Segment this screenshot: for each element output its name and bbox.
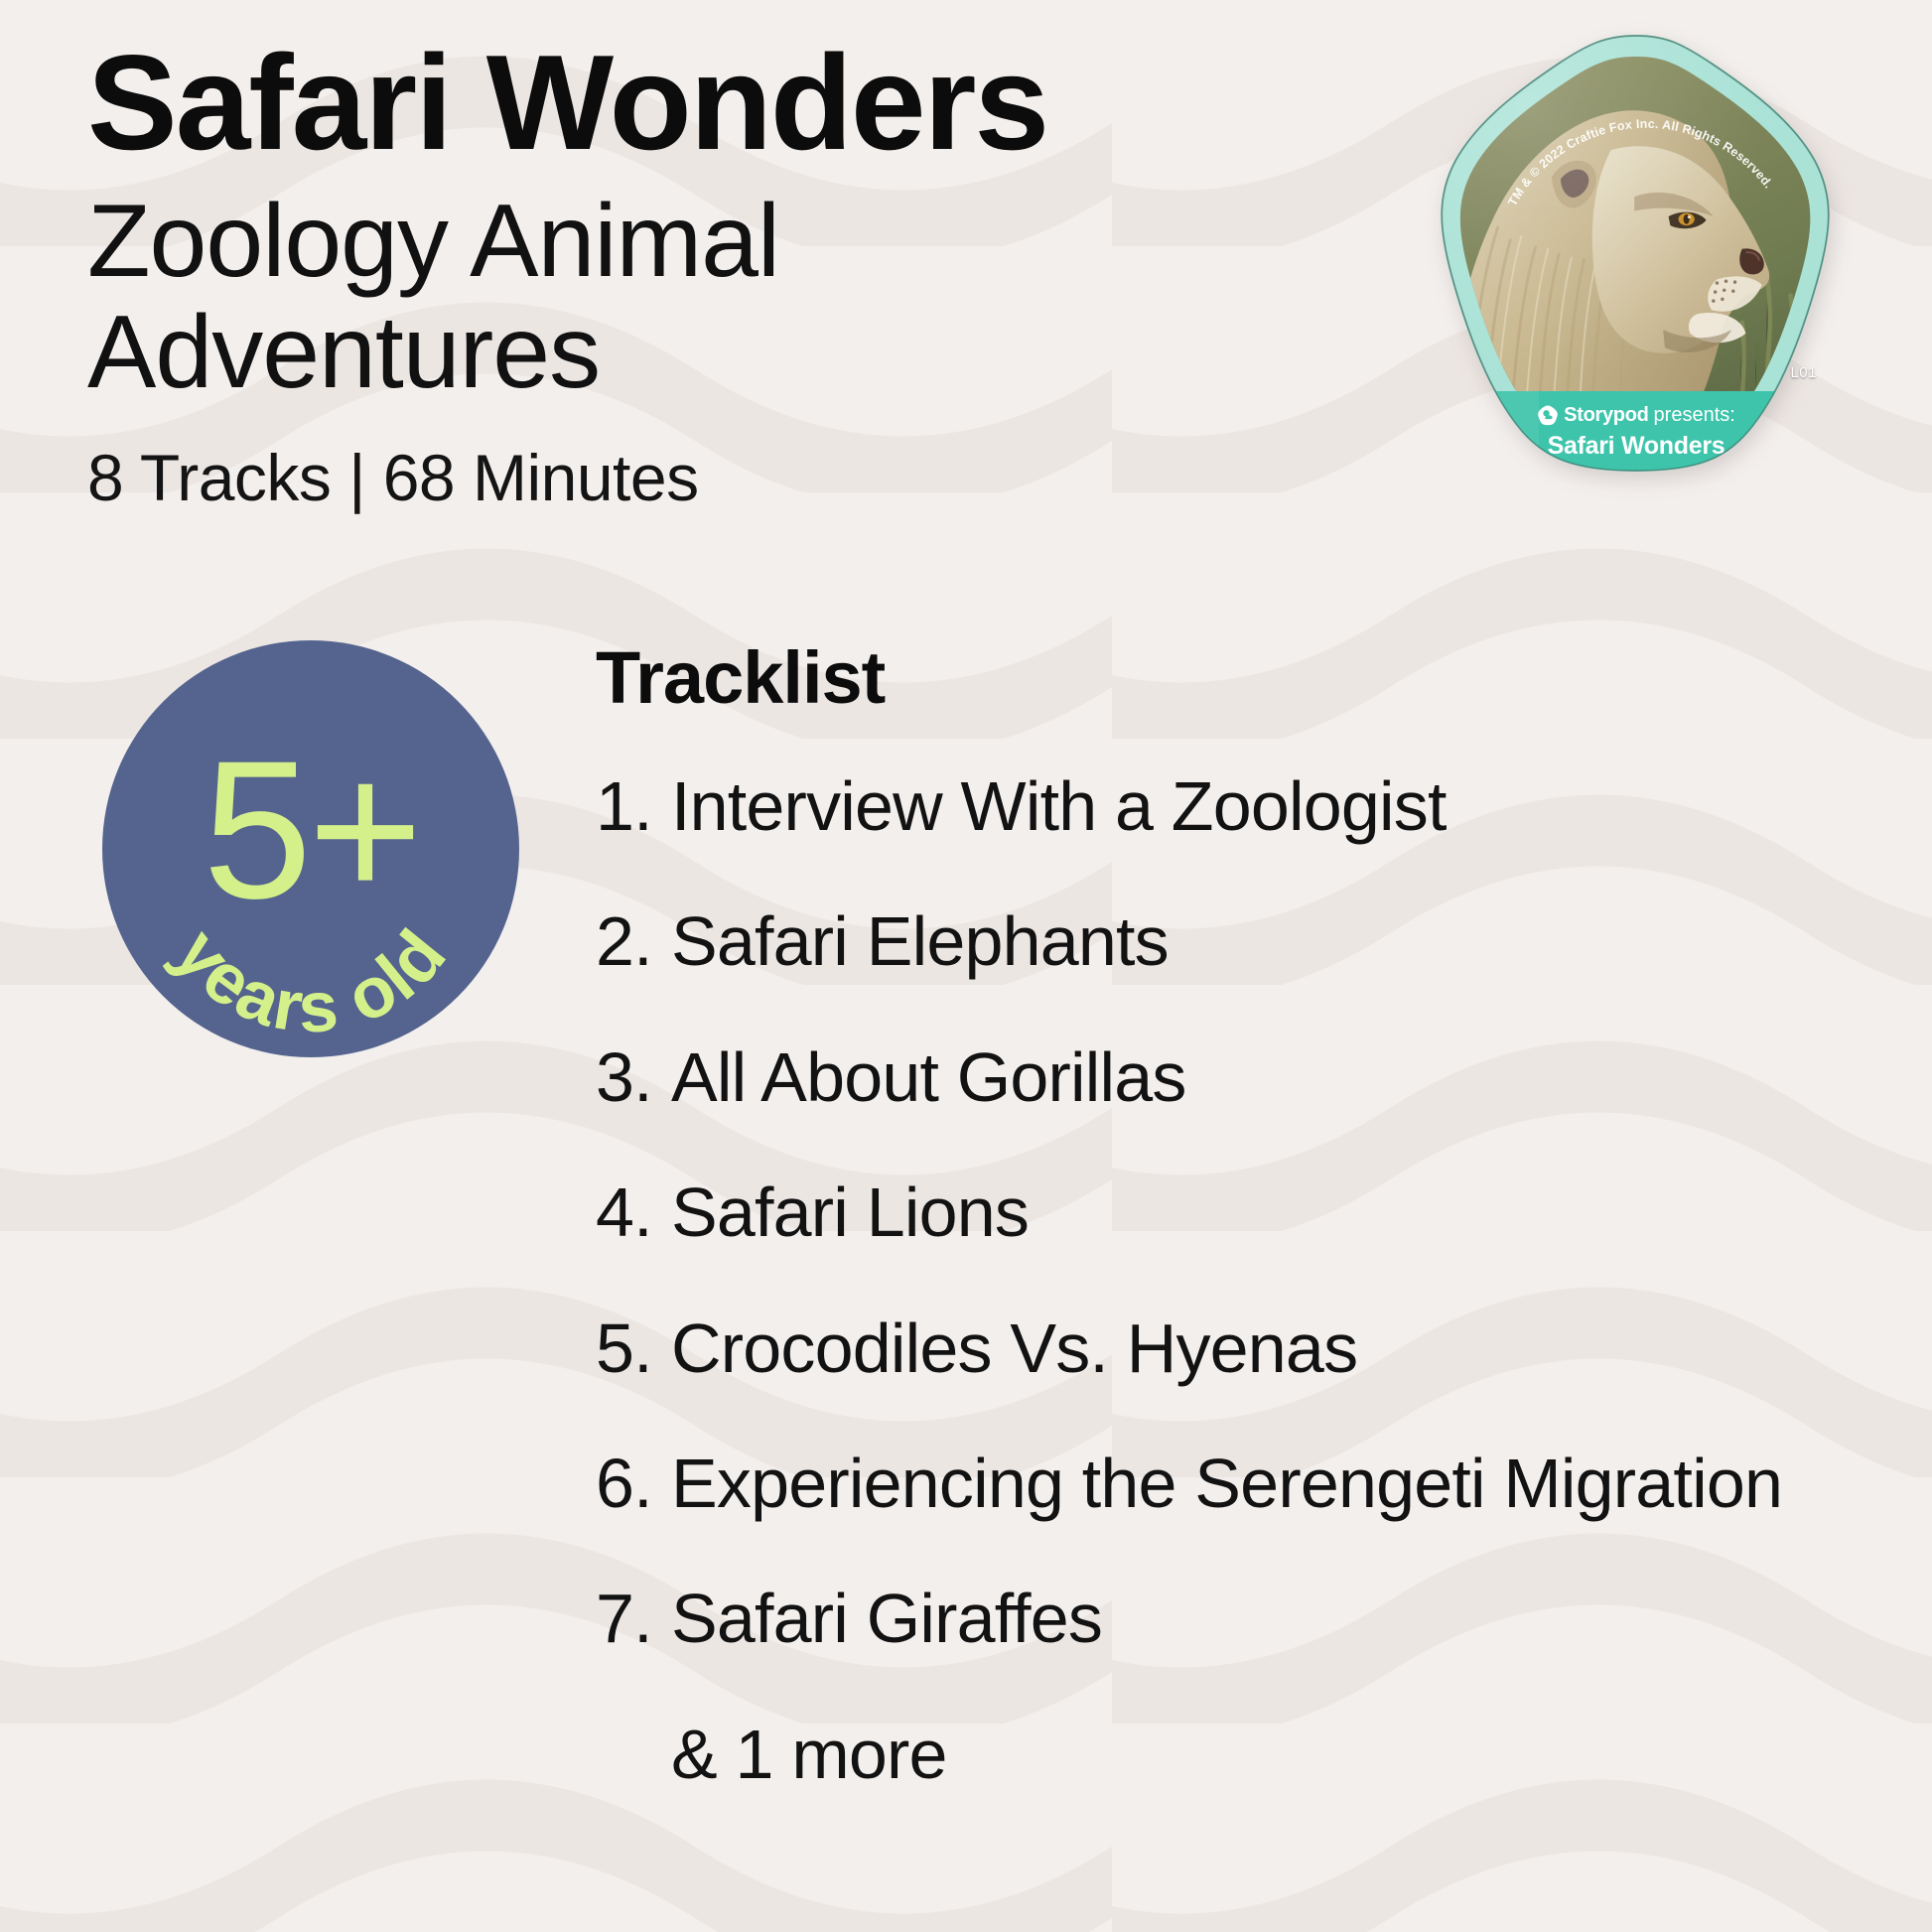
card-brand-name: Storypod [1564,405,1648,425]
track-title: Safari Lions [671,1173,1886,1251]
track-title: Safari Giraffes [671,1580,1886,1657]
storypod-logo-icon [1537,404,1559,426]
tracklist-items: 1.Interview With a Zoologist2.Safari Ele… [596,767,1886,1658]
track-duration-meta: 8 Tracks | 68 Minutes [87,442,1378,514]
track-number: 7. [596,1580,671,1657]
track-number: 2. [596,902,671,980]
track-item: 1.Interview With a Zoologist [596,767,1886,845]
age-badge-caption: years old [159,914,462,1048]
card-presents-row: Storypod presents: [1422,404,1851,426]
age-badge: 5+ years old [102,640,519,1057]
track-number: 6. [596,1445,671,1522]
track-item: 2.Safari Elephants [596,902,1886,980]
tracklist-heading: Tracklist [596,635,1886,720]
track-number: 1. [596,767,671,845]
track-number: 5. [596,1310,671,1387]
product-card[interactable]: TM & © 2022 Craftie Fox Inc. All Rights … [1422,22,1851,488]
track-title: Interview With a Zoologist [671,767,1886,845]
age-badge-caption-arc: years old [102,640,519,1057]
page-subtitle: Zoology Animal Adventures [87,186,862,409]
track-title: All About Gorillas [671,1038,1886,1116]
track-item: 7.Safari Giraffes [596,1580,1886,1657]
track-title: Safari Elephants [671,902,1886,980]
card-code-label: L01 [1790,364,1817,381]
track-item: 3.All About Gorillas [596,1038,1886,1116]
track-number: 4. [596,1173,671,1251]
card-album-title: Safari Wonders [1422,432,1851,461]
card-presents-suffix: presents: [1654,405,1735,425]
track-item: 5.Crocodiles Vs. Hyenas [596,1310,1886,1387]
svg-text:years old: years old [159,914,462,1048]
card-banner: Storypod presents: Safari Wonders [1422,404,1851,461]
track-title: Experiencing the Serengeti Migration [671,1445,1886,1522]
track-number: 3. [596,1038,671,1116]
poster-canvas: Safari Wonders Zoology Animal Adventures… [0,0,1932,1932]
track-title: Crocodiles Vs. Hyenas [671,1310,1886,1387]
tracklist-more-label: & 1 more [596,1716,1886,1793]
page-title: Safari Wonders [87,34,1378,172]
track-item: 6.Experiencing the Serengeti Migration [596,1445,1886,1522]
header-block: Safari Wonders Zoology Animal Adventures… [87,34,1378,514]
track-item: 4.Safari Lions [596,1173,1886,1251]
tracklist-section: Tracklist 1.Interview With a Zoologist2.… [596,635,1886,1793]
